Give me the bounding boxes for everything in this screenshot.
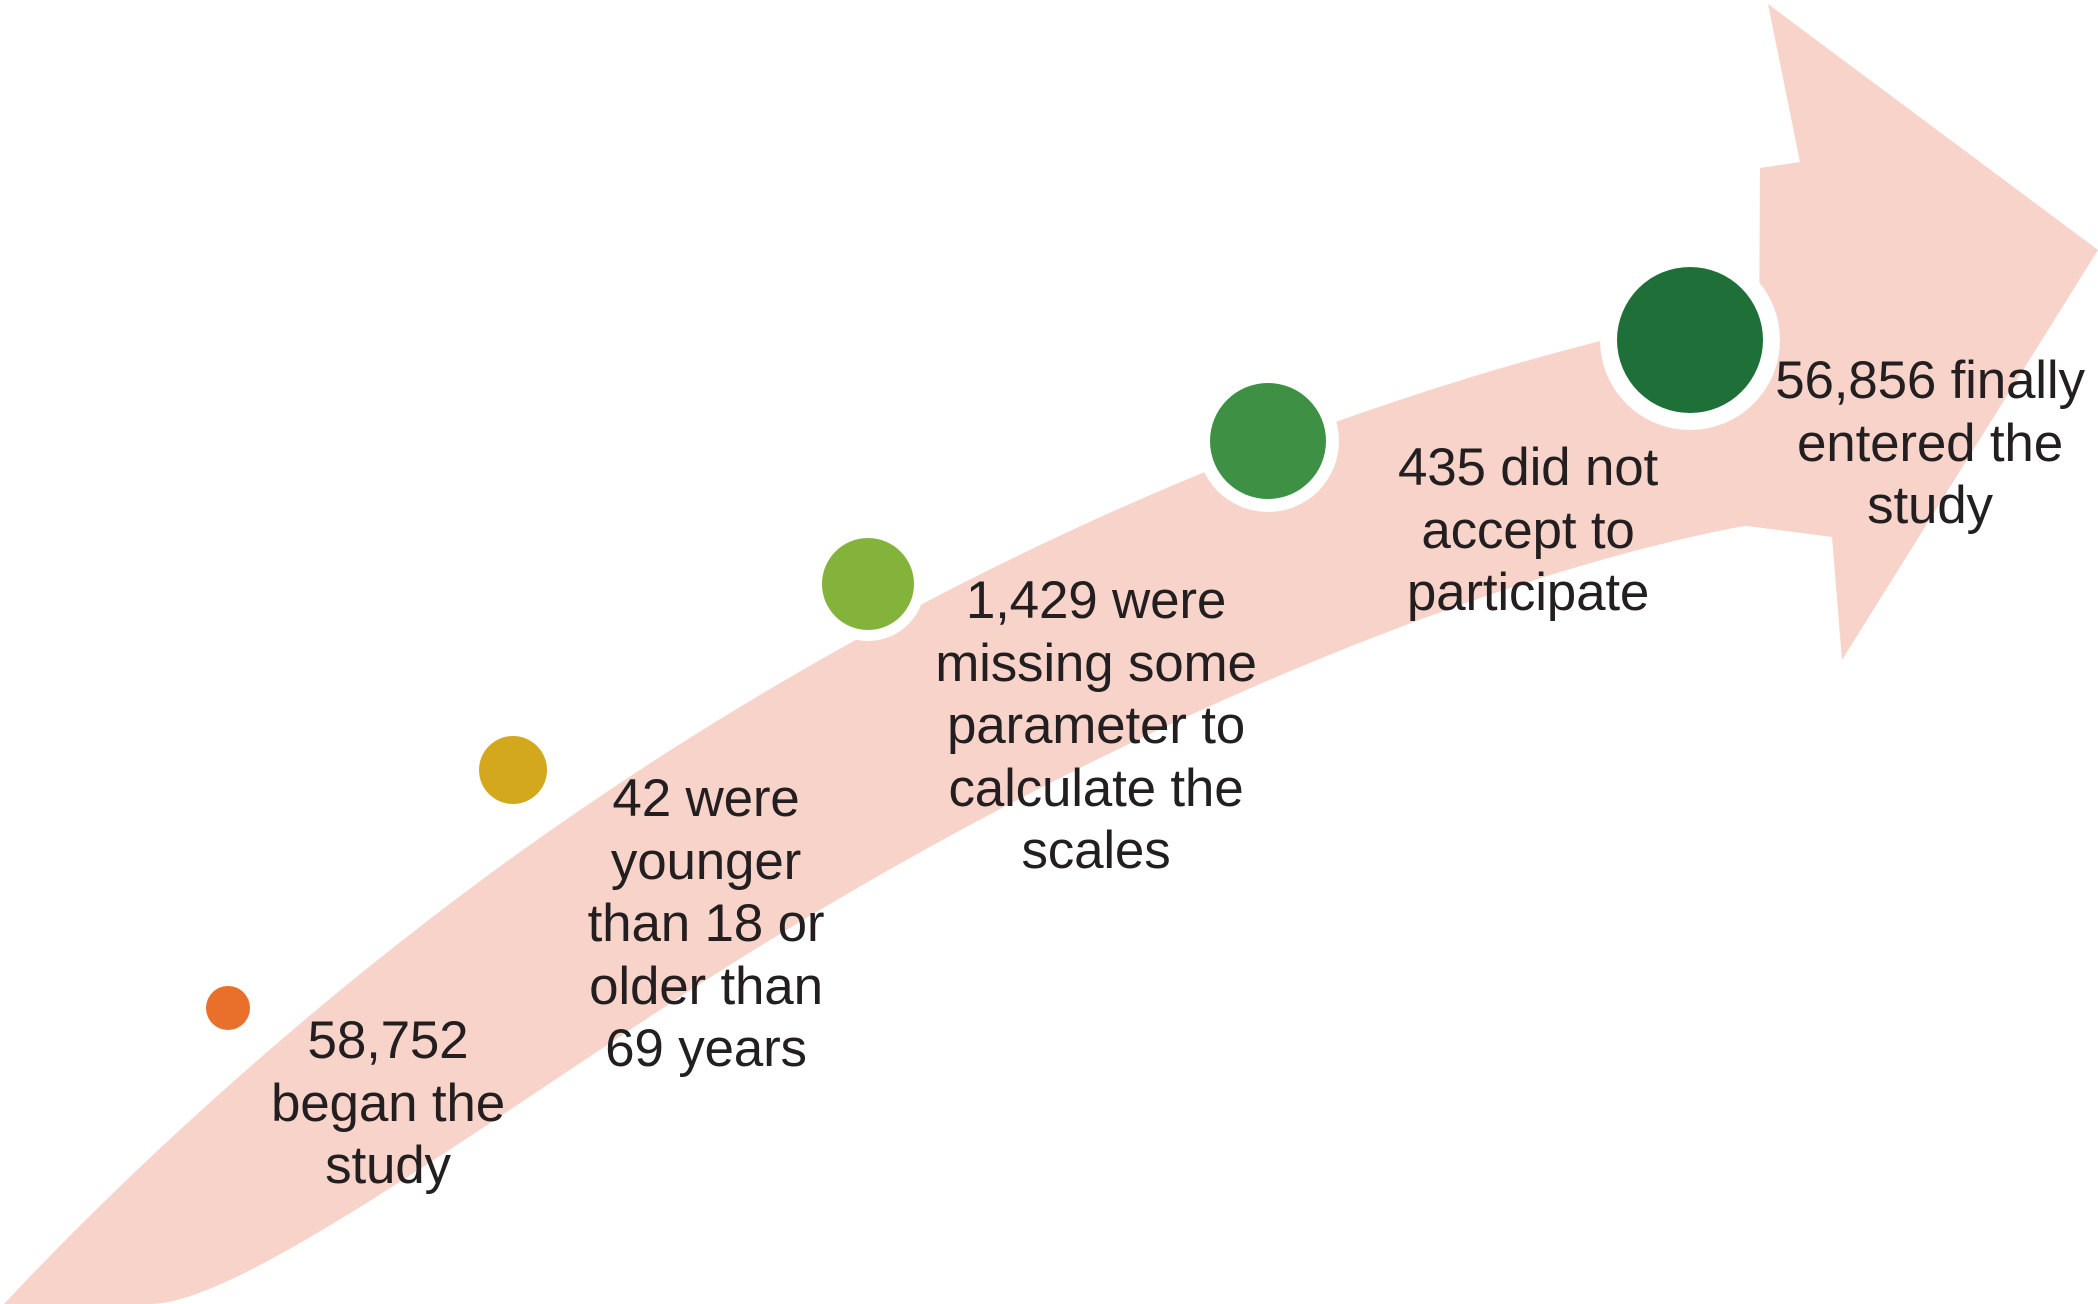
yellow-circle-marker[interactable] xyxy=(471,728,555,812)
yellow-circle-fill xyxy=(479,736,547,804)
medium-green-circle-fill xyxy=(1210,383,1326,499)
step-label-began-study: 58,752 began the study xyxy=(243,1010,533,1198)
flow-diagram-canvas: 58,752 began the study 42 were younger t… xyxy=(0,0,2098,1304)
step-label-age-excluded: 42 were younger than 18 or older than 69… xyxy=(556,768,856,1081)
step-label-missing-parameter: 1,429 were missing some parameter to cal… xyxy=(901,570,1291,883)
step-label-entered-study: 56,856 finally entered the study xyxy=(1735,350,2098,538)
step-label-declined-participation: 435 did not accept to participate xyxy=(1363,437,1693,625)
medium-green-circle-marker[interactable] xyxy=(1197,370,1339,512)
